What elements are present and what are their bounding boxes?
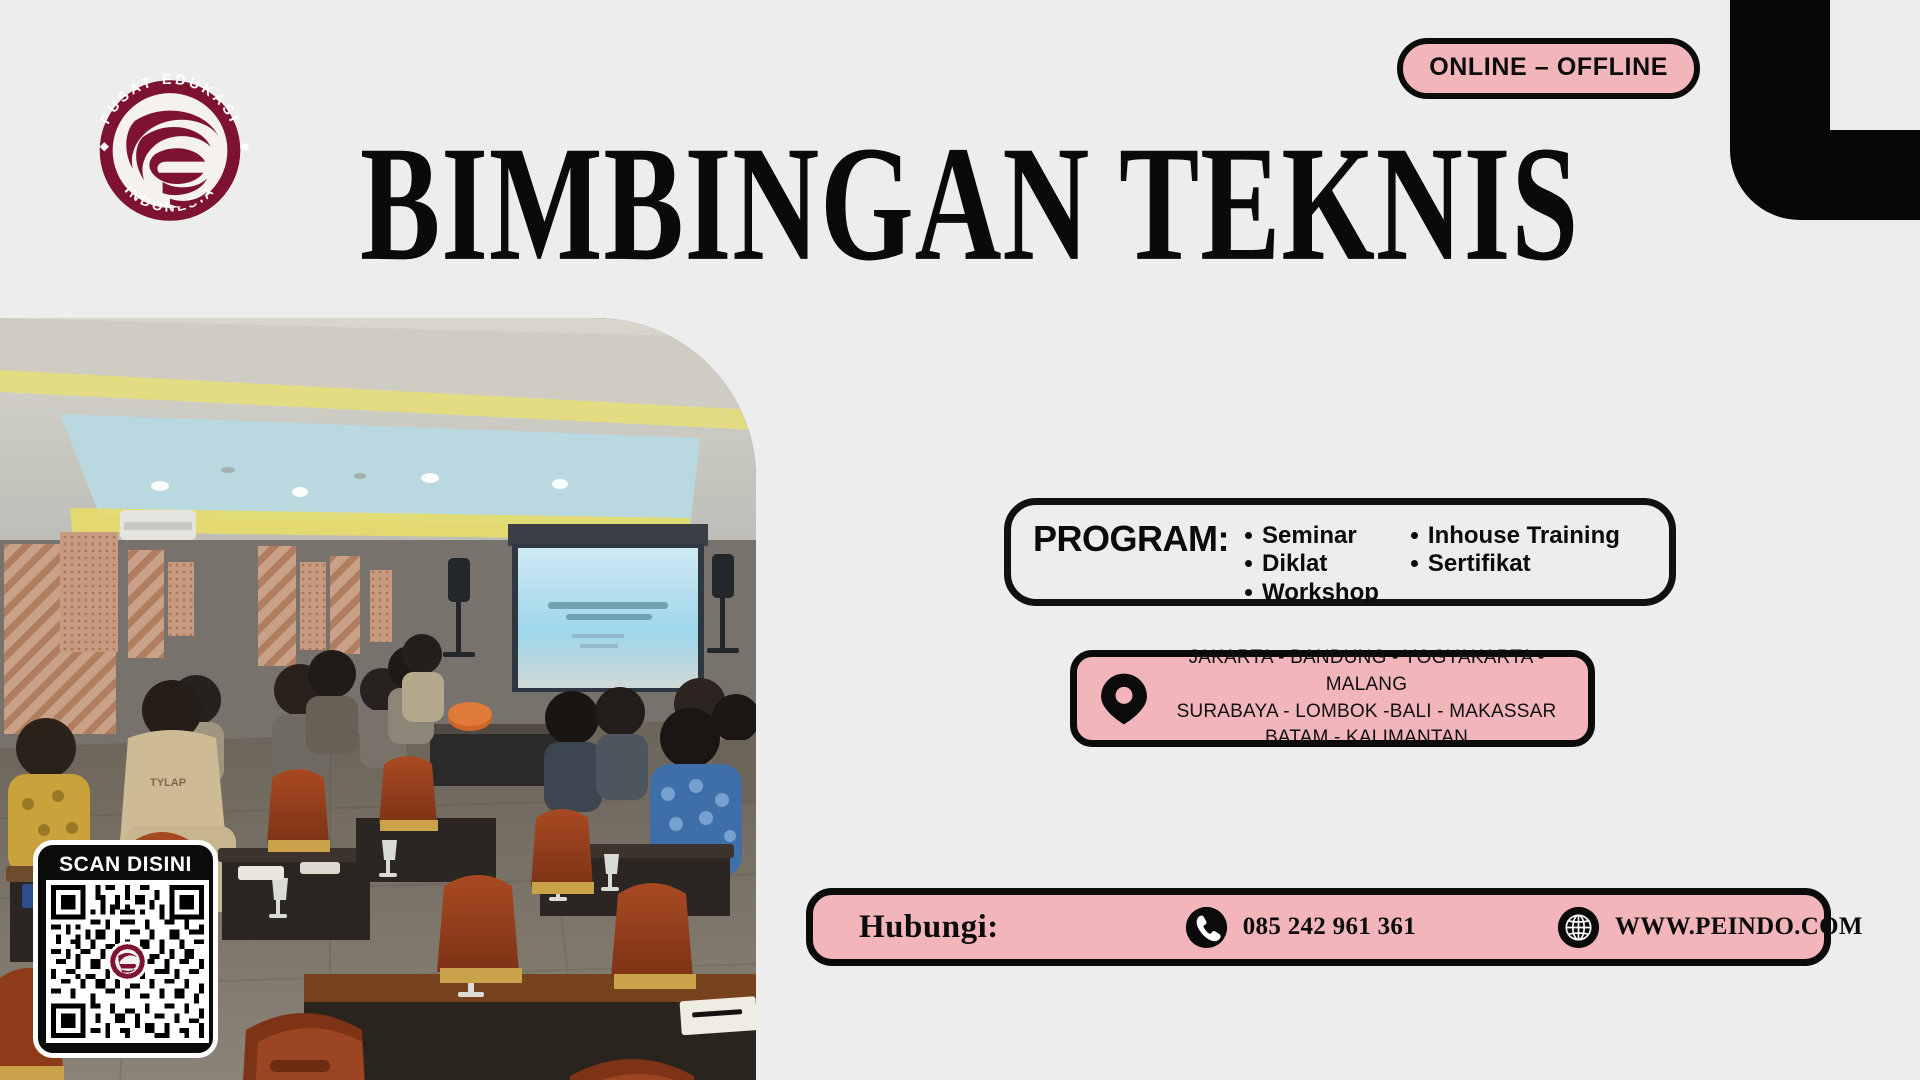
page-title: BIMBINGAN TEKNIS <box>360 122 1579 287</box>
program-columns: Seminar Diklat Workshop Inhouse Training… <box>1243 519 1620 607</box>
phone-icon <box>1184 905 1229 950</box>
location-line: SURABAYA - LOMBOK -BALI - MAKASSAR <box>1161 699 1572 726</box>
website-url: WWW.PEINDO.COM <box>1615 913 1863 941</box>
contact-website[interactable]: WWW.PEINDO.COM <box>1556 905 1863 950</box>
contact-phone[interactable]: 085 242 961 361 <box>1184 905 1416 950</box>
program-column-left: Seminar Diklat Workshop <box>1243 522 1379 607</box>
phone-number: 085 242 961 361 <box>1243 913 1416 941</box>
qr-code-image <box>46 880 209 1043</box>
program-item: Seminar <box>1243 522 1379 550</box>
qr-title: SCAN DISINI <box>46 853 205 876</box>
globe-icon <box>1556 905 1601 950</box>
program-item: Workshop <box>1243 579 1379 607</box>
qr-scan-card[interactable]: SCAN DISINI <box>33 840 218 1058</box>
pusat-edukasi-indonesia-logo: PUSAT EDUKASI INDONESIA <box>70 58 270 243</box>
program-label: PROGRAM: <box>1033 519 1229 559</box>
location-text: JAKARTA - BANDUNG - YOGYAKARTA - MALANG … <box>1161 645 1572 753</box>
location-line: BATAM - KALIMANTAN <box>1161 725 1572 752</box>
corner-decoration <box>1730 0 1920 220</box>
program-item: Inhouse Training <box>1409 522 1620 550</box>
svg-text:TYLAP: TYLAP <box>150 777 186 789</box>
contact-label: Hubungi: <box>859 909 999 946</box>
online-offline-badge: ONLINE – OFFLINE <box>1397 38 1700 99</box>
map-pin-icon <box>1095 670 1153 728</box>
program-item: Diklat <box>1243 550 1379 578</box>
contact-bar: Hubungi: 085 242 961 361 <box>806 888 1831 966</box>
location-line: JAKARTA - BANDUNG - YOGYAKARTA - MALANG <box>1161 645 1572 699</box>
program-item: Sertifikat <box>1409 550 1620 578</box>
location-box: JAKARTA - BANDUNG - YOGYAKARTA - MALANG … <box>1070 650 1595 747</box>
program-box: PROGRAM: Seminar Diklat Workshop Inhouse… <box>1004 498 1676 606</box>
program-column-right: Inhouse Training Sertifikat <box>1409 522 1620 607</box>
